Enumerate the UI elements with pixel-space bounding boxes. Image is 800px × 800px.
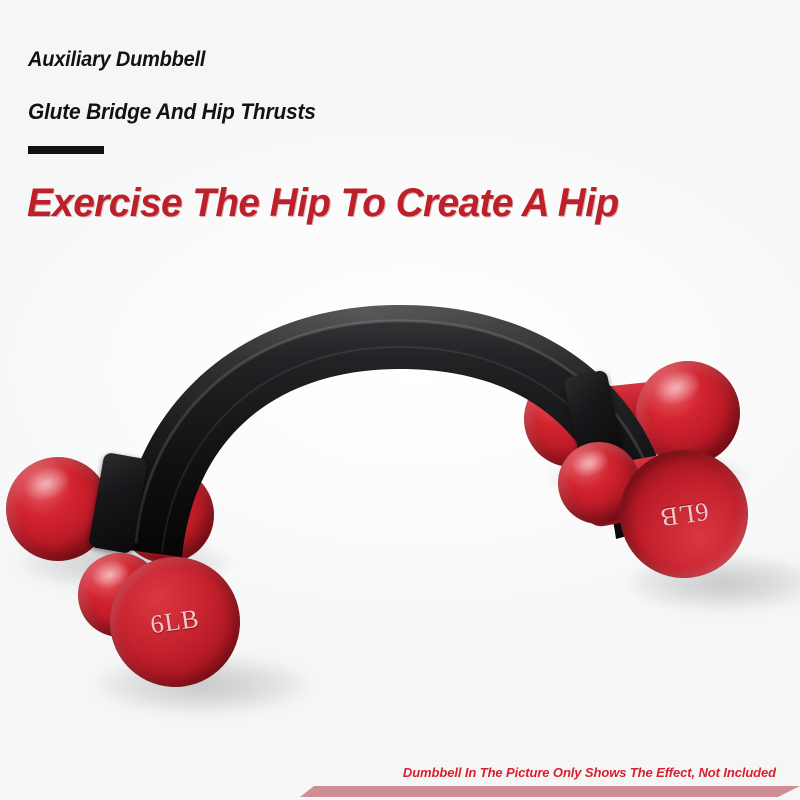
product-marketing-image: Auxiliary Dumbbell Glute Bridge And Hip … (0, 0, 800, 800)
eyebrow-text: Auxiliary Dumbbell (28, 48, 205, 72)
heading-underline-rule (28, 146, 104, 154)
subheading-text: Glute Bridge And Hip Thrusts (28, 99, 316, 125)
headline-text: Exercise The Hip To Create A Hip (27, 181, 619, 226)
footer-banner-bar (300, 786, 800, 797)
weight-label: 6LB (149, 604, 202, 641)
disclaimer-text: Dumbbell In The Picture Only Shows The E… (403, 765, 776, 780)
weight-label: 6LB (658, 496, 711, 533)
product-photo: 6LB 6LB (0, 255, 800, 725)
